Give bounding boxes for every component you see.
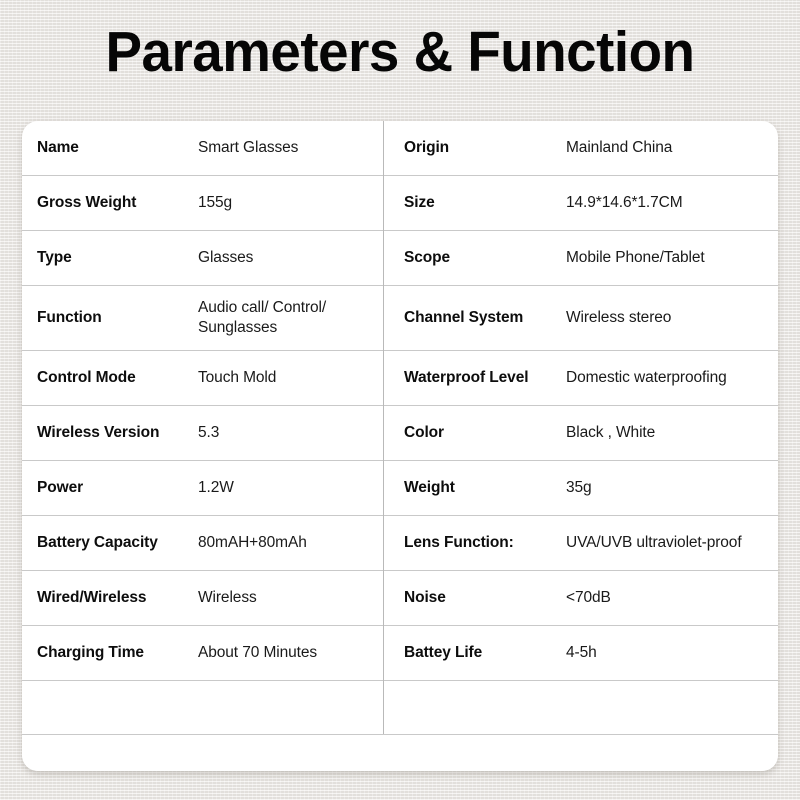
spec-label: Power [37,479,198,497]
spec-value: Audio call/ Control/ Sunglasses [198,298,383,338]
spec-label: Gross Weight [37,194,198,212]
product-spec-page: Parameters & Function Name Smart Glasses… [0,0,800,800]
spec-value: Glasses [198,248,383,268]
spec-value: 5.3 [198,423,383,443]
spec-label: Battey Life [404,644,566,662]
spec-label: Size [404,194,566,212]
table-row: Scope Mobile Phone/Tablet [384,231,778,286]
spec-value: About 70 Minutes [198,643,383,663]
spec-label: Battery Capacity [37,534,198,552]
spec-label: Channel System [404,309,566,327]
page-title: Parameters & Function [16,20,784,84]
spec-value: Smart Glasses [198,138,383,158]
spec-label: Origin [404,139,566,157]
table-row: Noise <70dB [384,571,778,626]
table-row: Channel System Wireless stereo [384,286,778,351]
table-row: Battery Capacity 80mAH+80mAh [22,516,383,571]
table-row: Wired/Wireless Wireless [22,571,383,626]
table-row: Control Mode Touch Mold [22,351,383,406]
spec-value: 35g [566,478,778,498]
spec-label: Scope [404,249,566,267]
specifications-card: Name Smart Glasses Gross Weight 155g Typ… [22,121,778,771]
table-row: Name Smart Glasses [22,121,383,176]
spec-label: Color [404,424,566,442]
spec-label: Charging Time [37,644,198,662]
spec-label: Wireless Version [37,424,198,442]
table-row: Power 1.2W [22,461,383,516]
table-row-empty [384,681,778,736]
spec-label: Type [37,249,198,267]
spec-label: Function [37,309,198,327]
card-footer-strip [22,734,778,771]
spec-value: Mobile Phone/Tablet [566,248,778,268]
spec-label: Noise [404,589,566,607]
table-row: Origin Mainland China [384,121,778,176]
table-row: Type Glasses [22,231,383,286]
spec-value: 155g [198,193,383,213]
spec-table: Name Smart Glasses Gross Weight 155g Typ… [22,121,778,771]
table-row: Function Audio call/ Control/ Sunglasses [22,286,383,351]
table-row: Color Black , White [384,406,778,461]
spec-value: Wireless [198,588,383,608]
spec-value: Touch Mold [198,368,383,388]
spec-label: Waterproof Level [404,369,566,387]
spec-table-right-column: Origin Mainland China Size 14.9*14.6*1.7… [383,121,778,771]
table-row: Charging Time About 70 Minutes [22,626,383,681]
spec-label: Lens Function: [404,534,566,552]
spec-value: 14.9*14.6*1.7CM [566,193,778,213]
spec-label: Weight [404,479,566,497]
spec-value: Mainland China [566,138,778,158]
table-row: Gross Weight 155g [22,176,383,231]
spec-value: 4-5h [566,643,778,663]
table-row: Battey Life 4-5h [384,626,778,681]
spec-label: Control Mode [37,369,198,387]
table-row: Lens Function: UVA/UVB ultraviolet-proof [384,516,778,571]
spec-label: Wired/Wireless [37,589,198,607]
table-row-empty [22,681,383,736]
spec-value: 80mAH+80mAh [198,533,383,553]
spec-value: 1.2W [198,478,383,498]
spec-label: Name [37,139,198,157]
spec-value: Wireless stereo [566,308,778,328]
table-row: Wireless Version 5.3 [22,406,383,461]
spec-value: UVA/UVB ultraviolet-proof [566,533,778,553]
spec-value: <70dB [566,588,778,608]
table-row: Size 14.9*14.6*1.7CM [384,176,778,231]
spec-value: Domestic waterproofing [566,368,778,388]
table-row: Weight 35g [384,461,778,516]
table-row: Waterproof Level Domestic waterproofing [384,351,778,406]
spec-table-left-column: Name Smart Glasses Gross Weight 155g Typ… [22,121,383,771]
spec-value: Black , White [566,423,778,443]
